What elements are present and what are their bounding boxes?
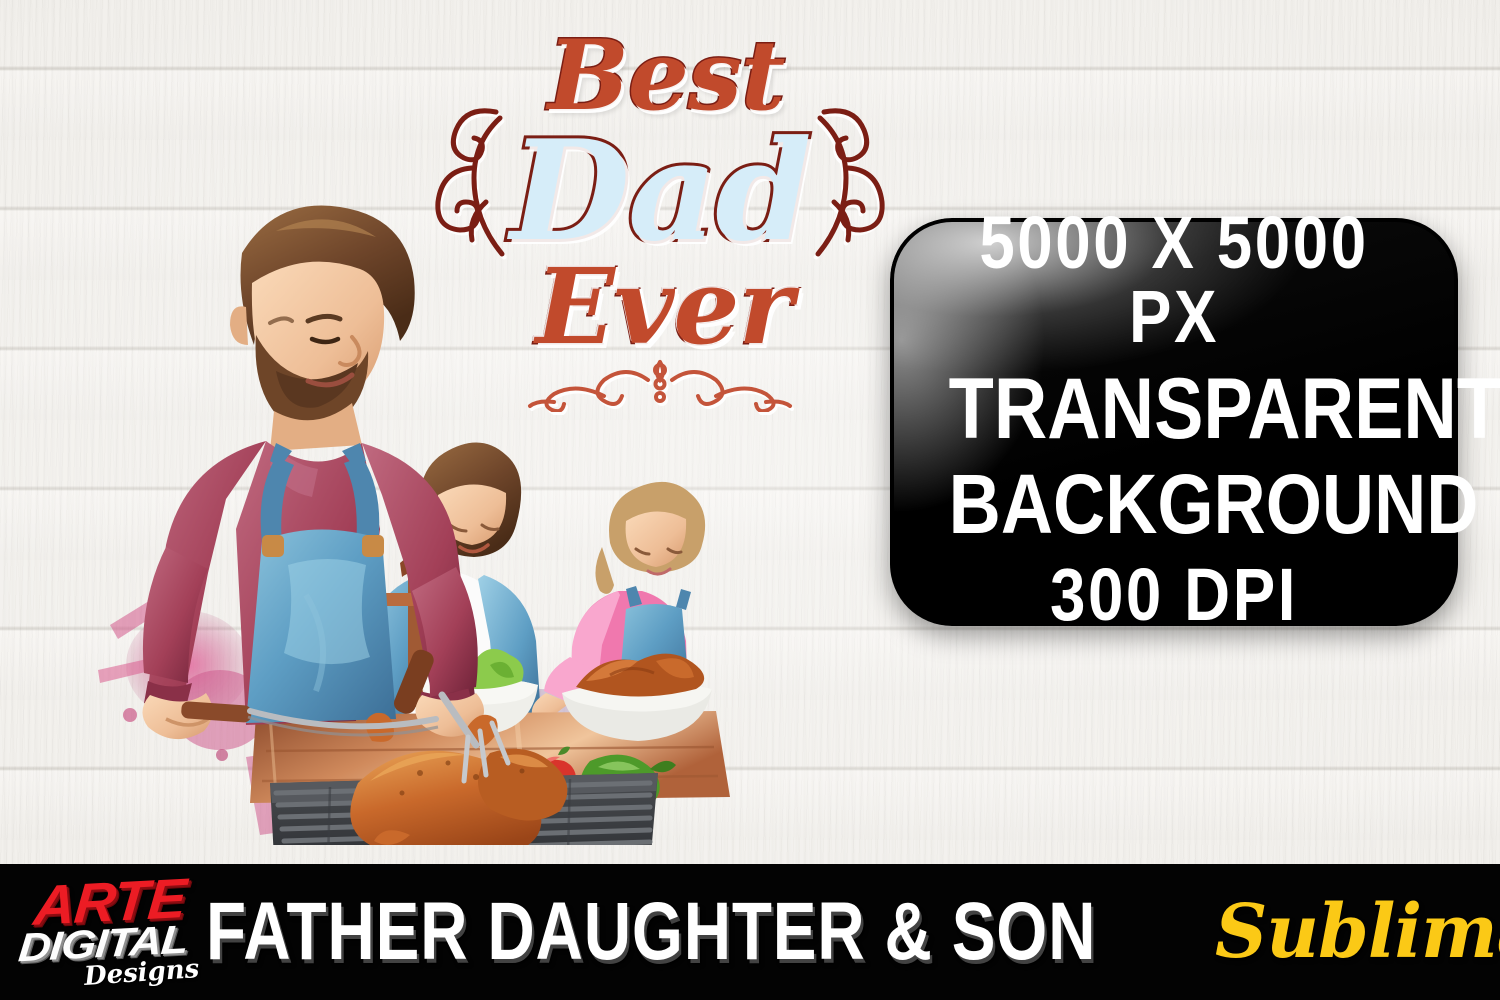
product-mockup-canvas: Best Dad Ever <box>0 0 1500 1000</box>
title-line-dad-row: Dad <box>430 116 890 266</box>
spec-line-transparent: TRANSPARENT <box>949 366 1400 452</box>
spec-line-dimensions: 5000 X 5000 PX <box>949 206 1400 354</box>
footer-text-group: FATHER DAUGHTER & SON Sublimation Design <box>206 889 1500 975</box>
footer-product-script: Sublimation Design <box>1215 889 1500 975</box>
title-line-ever: Ever <box>434 254 894 360</box>
arte-digital-designs-logo: ARTE DIGITAL Designs <box>6 868 206 996</box>
spec-badge: 5000 X 5000 PX TRANSPARENT BACKGROUND 30… <box>890 218 1458 626</box>
footer-product-title: FATHER DAUGHTER & SON <box>206 891 1096 973</box>
left-scroll-flourish-icon <box>426 102 518 264</box>
logo-word-designs: Designs <box>83 956 200 990</box>
right-scroll-flourish-icon <box>802 102 894 264</box>
title-line-best: Best <box>436 28 896 124</box>
footer-banner: ARTE DIGITAL Designs FATHER DAUGHTER & S… <box>0 864 1500 1000</box>
title-lockup: Best Dad Ever <box>430 28 890 428</box>
spec-line-background: BACKGROUND <box>949 462 1400 546</box>
spec-line-dpi: 300 DPI <box>949 558 1400 632</box>
